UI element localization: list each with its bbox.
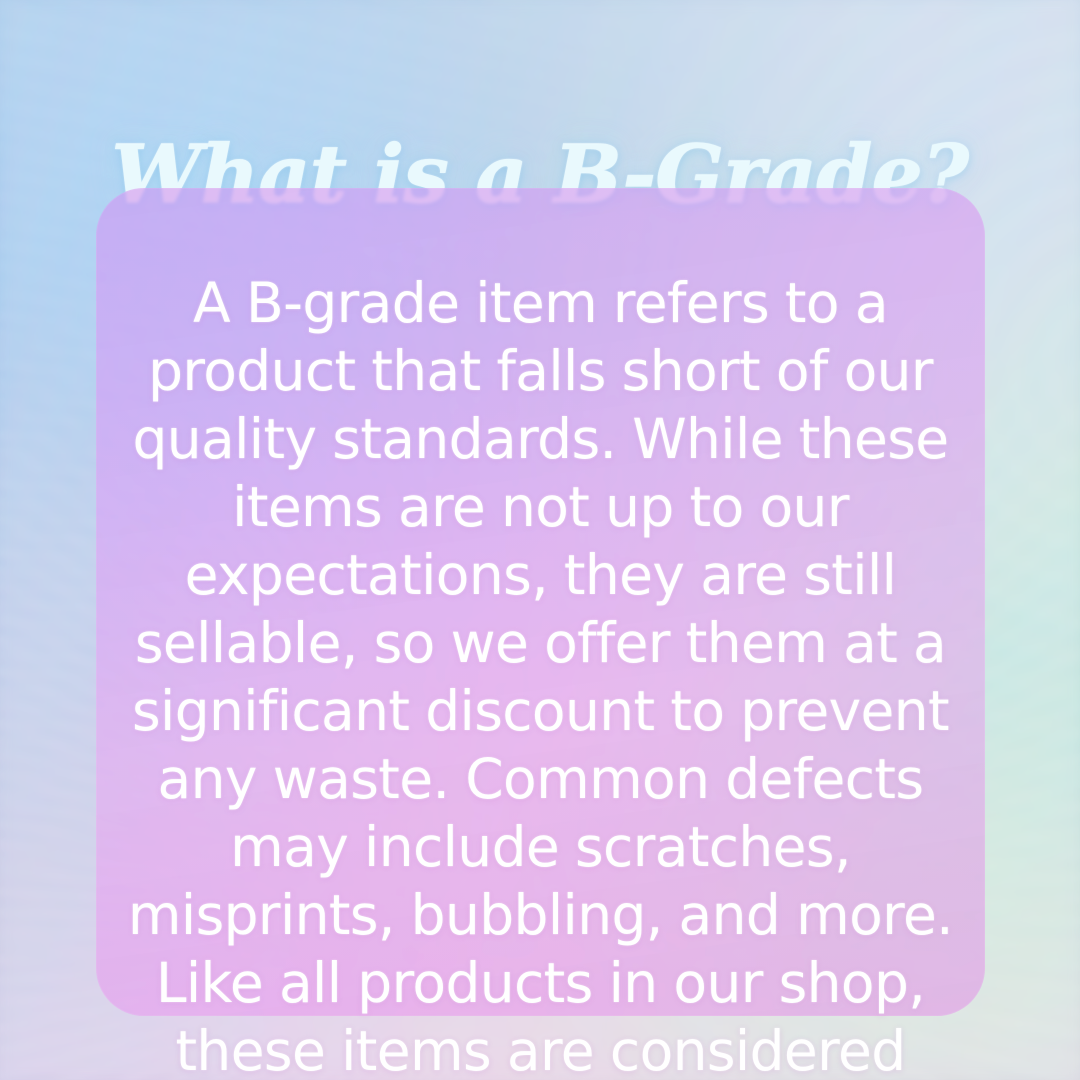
poster-canvas: What is a B-Grade? A B-grade item refers…: [0, 0, 1080, 1080]
explainer-paragraph: A B-grade item refers to a product that …: [118, 269, 963, 1080]
explainer-card: A B-grade item refers to a product that …: [96, 188, 985, 1016]
